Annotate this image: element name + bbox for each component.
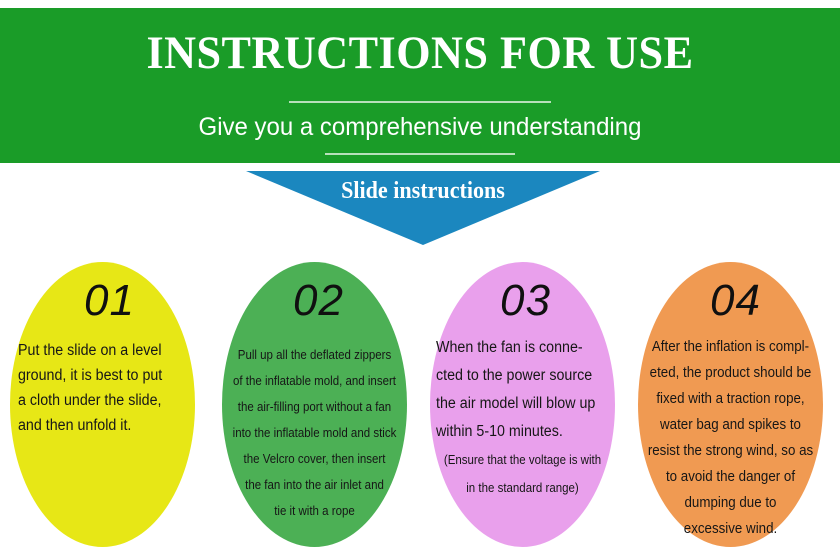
step-line: eted, the product should be	[645, 360, 815, 386]
step-line: When the fan is conne-	[436, 334, 601, 362]
step-line: into the inflatable mold and stick	[229, 420, 399, 446]
step-card-02: 02 Pull up all the deflated zippers of t…	[222, 262, 407, 547]
step-number: 01	[10, 276, 195, 326]
step-line: ground, it is best to put	[18, 363, 181, 388]
step-note-line: (Ensure that the voltage is with	[443, 446, 602, 474]
header-divider-bottom	[325, 153, 515, 155]
step-line: within 5-10 minutes.	[436, 418, 601, 446]
step-body: Put the slide on a level ground, it is b…	[10, 338, 195, 438]
step-card-03: 03 When the fan is conne- cted to the po…	[430, 262, 615, 547]
step-line: the Velcro cover, then insert	[229, 446, 399, 472]
step-line: a cloth under the slide,	[18, 388, 181, 413]
step-line: the fan into the air inlet and	[229, 472, 399, 498]
step-line: Pull up all the deflated zippers	[229, 342, 399, 368]
step-line: excessive wind.	[645, 516, 815, 542]
step-line: tie it with a rope	[229, 498, 399, 524]
step-note-line: in the standard range)	[443, 474, 602, 502]
step-card-01: 01 Put the slide on a level ground, it i…	[10, 262, 195, 547]
page-title: INSTRUCTIONS FOR USE	[25, 29, 815, 78]
step-line: resist the strong wind, so as	[645, 438, 815, 464]
step-number: 03	[430, 276, 615, 326]
step-line: and then unfold it.	[18, 413, 181, 438]
page-subtitle: Give you a comprehensive understanding	[17, 113, 823, 142]
step-number: 02	[222, 276, 407, 326]
header-divider-top	[289, 101, 551, 103]
step-line: fixed with a traction rope,	[645, 386, 815, 412]
step-line: of the inflatable mold, and insert	[229, 368, 399, 394]
step-line: the air model will blow up	[436, 390, 601, 418]
section-banner-label: Slide instructions	[260, 178, 586, 205]
header-banner: INSTRUCTIONS FOR USE Give you a comprehe…	[0, 8, 840, 163]
step-line: After the inflation is compl-	[645, 334, 815, 360]
step-body: When the fan is conne- cted to the power…	[430, 334, 615, 502]
step-line: dumping due to	[645, 490, 815, 516]
step-line: the air-filling port without a fan	[229, 394, 399, 420]
step-body: Pull up all the deflated zippers of the …	[222, 342, 407, 524]
section-banner: Slide instructions	[246, 171, 600, 245]
step-body: After the inflation is compl- eted, the …	[638, 334, 823, 542]
step-number: 04	[638, 276, 823, 326]
step-line: cted to the power source	[436, 362, 601, 390]
step-card-04: 04 After the inflation is compl- eted, t…	[638, 262, 823, 547]
step-line: water bag and spikes to	[645, 412, 815, 438]
step-line: to avoid the danger of	[645, 464, 815, 490]
step-line: Put the slide on a level	[18, 338, 181, 363]
